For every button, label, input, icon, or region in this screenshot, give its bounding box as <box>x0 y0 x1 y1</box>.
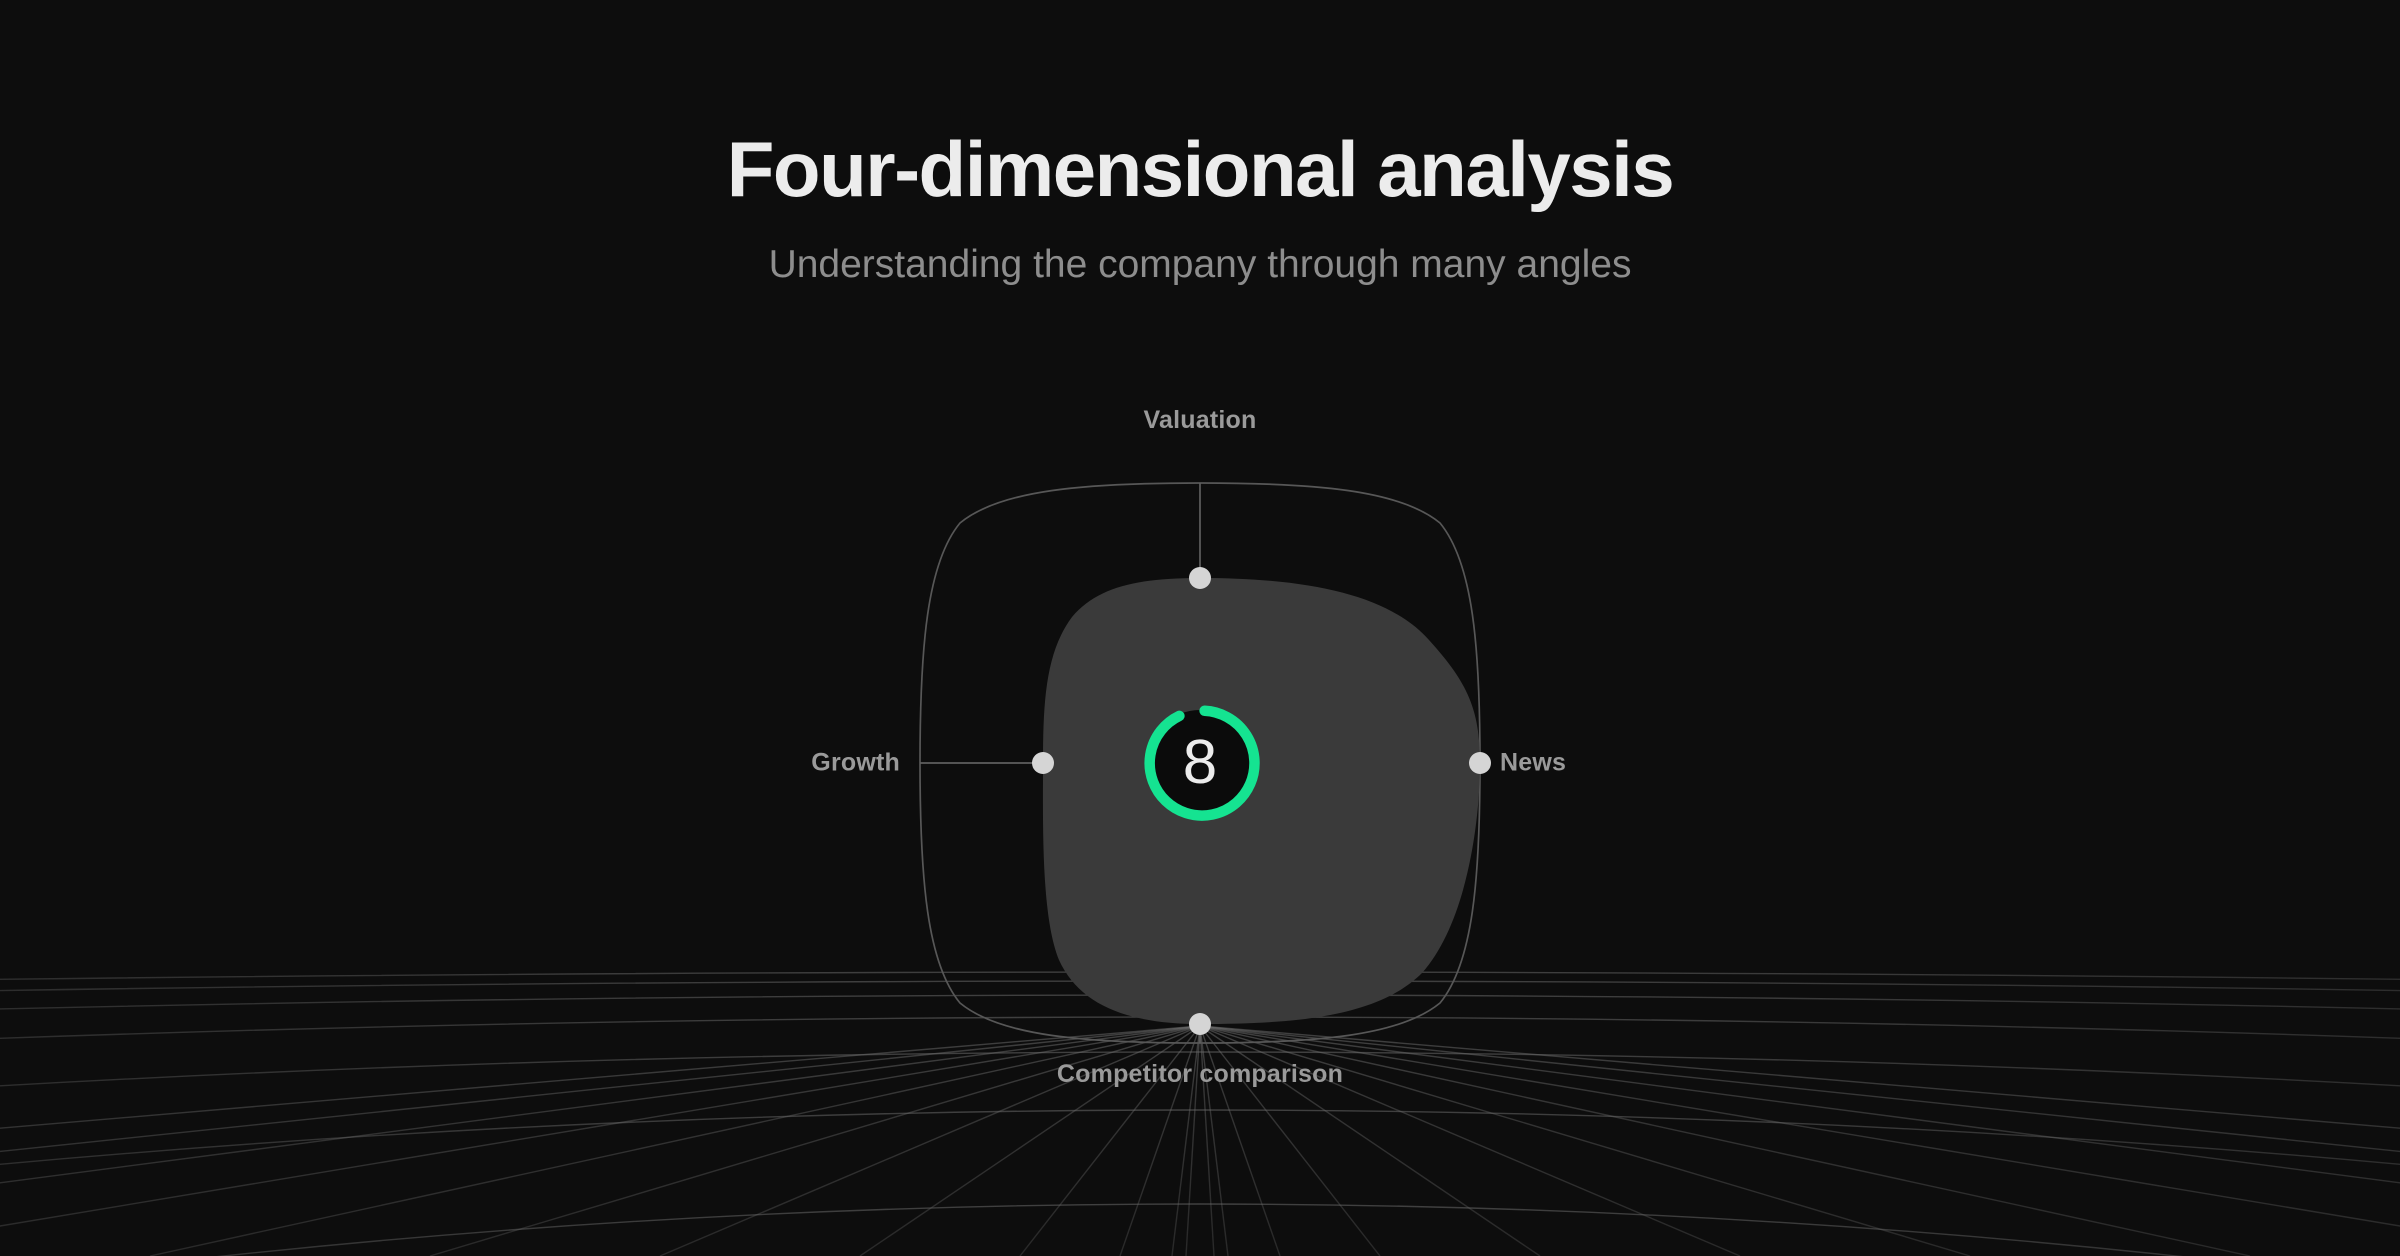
radar-point-growth[interactable] <box>1032 752 1054 774</box>
radar-point-valuation[interactable] <box>1189 567 1211 589</box>
radar-data-area <box>1043 578 1480 1024</box>
radar-label-growth: Growth <box>811 749 900 778</box>
radar-label-valuation: Valuation <box>1144 406 1257 435</box>
radar-label-news: News <box>1500 749 1566 778</box>
header: Four-dimensional analysis Understanding … <box>0 0 2400 287</box>
radar-point-news[interactable] <box>1469 752 1491 774</box>
radar-label-competitor-comparison: Competitor comparison <box>1057 1060 1343 1089</box>
page-title: Four-dimensional analysis <box>0 130 2400 208</box>
radar-point-competitor-comparison[interactable] <box>1189 1013 1211 1035</box>
radar-chart: Valuation News Competitor comparison Gro… <box>800 400 1600 1160</box>
slide-canvas: Four-dimensional analysis Understanding … <box>0 0 2400 1256</box>
page-subtitle: Understanding the company through many a… <box>0 208 2400 287</box>
radar-chart-svg <box>800 400 1600 1160</box>
